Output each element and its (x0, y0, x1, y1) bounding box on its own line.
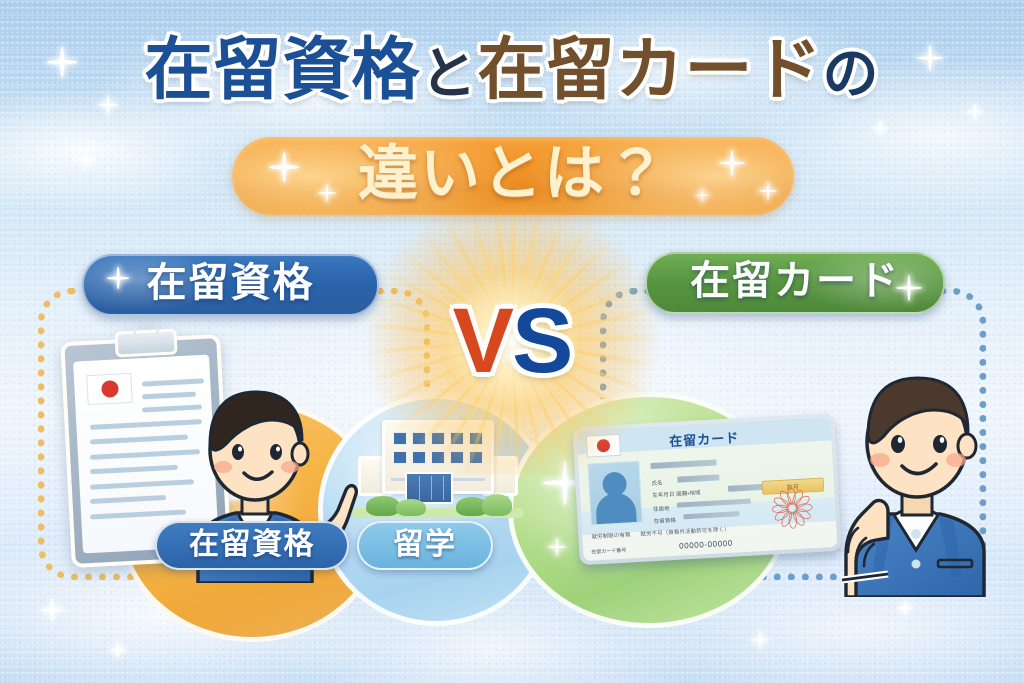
card-number: 00000-00000 (679, 539, 733, 551)
pill-label-0: 在留資格 (189, 530, 315, 560)
school-building-illustration (352, 412, 524, 536)
card-photo (587, 461, 642, 526)
sparkle-icon (696, 189, 709, 202)
title-part-to: と (421, 42, 478, 105)
banner-canvas: 在留資格と在留カードの 違いとは？ (0, 0, 1024, 683)
pill-label-1: 留学 (394, 530, 457, 560)
subtitle-text: 違いとは？ (358, 144, 668, 204)
bush-icon (396, 499, 426, 516)
person-right-illustration (818, 352, 1024, 597)
card-bottom-note: 在留カード番号 (591, 547, 626, 556)
bush-icon (366, 496, 400, 516)
pill-zairyu-shikaku[interactable]: 在留資格 (155, 521, 349, 570)
vs-v-letter: V (453, 290, 512, 392)
vs-label: VS (453, 295, 572, 387)
japan-flag-icon (586, 434, 621, 458)
sparkle-icon (110, 642, 126, 658)
sparkle-icon (269, 152, 299, 182)
sparkle-icon (898, 601, 912, 615)
page-title: 在留資格と在留カードの (0, 32, 1024, 108)
sparkle-icon (77, 151, 95, 169)
sparkle-icon (759, 182, 777, 200)
sparkle-icon (318, 184, 336, 202)
japan-flag-icon (86, 373, 133, 405)
residence-card-illustration: 在留カード 氏名 生年月日 国籍・地域 住居地 在留資格 許可 (572, 413, 841, 565)
bush-icon (482, 494, 512, 516)
title-part-zairyu-shikaku: 在留資格 (144, 32, 420, 108)
badge-zairyu-shikaku[interactable]: 在留資格 (82, 254, 379, 316)
vs-s-letter: S (512, 290, 571, 392)
badge-left-label: 在留資格 (147, 263, 315, 303)
title-part-zairyu-card: 在留カード (478, 32, 823, 108)
subtitle-banner: 違いとは？ (232, 137, 794, 215)
residence-card-title: 在留カード (669, 427, 740, 450)
pill-ryugaku[interactable]: 留学 (357, 521, 493, 570)
chrysanthemum-seal-icon (766, 482, 819, 535)
badge-right-label: 在留カード (690, 261, 900, 301)
sparkle-icon (751, 631, 769, 649)
sparkle-icon (548, 538, 566, 556)
sparkle-icon (719, 150, 745, 176)
sparkle-icon (107, 267, 129, 289)
sparkle-icon (41, 599, 63, 621)
sparkle-icon (873, 121, 887, 135)
title-part-no: の (823, 42, 880, 105)
badge-zairyu-card[interactable]: 在留カード (645, 252, 945, 314)
